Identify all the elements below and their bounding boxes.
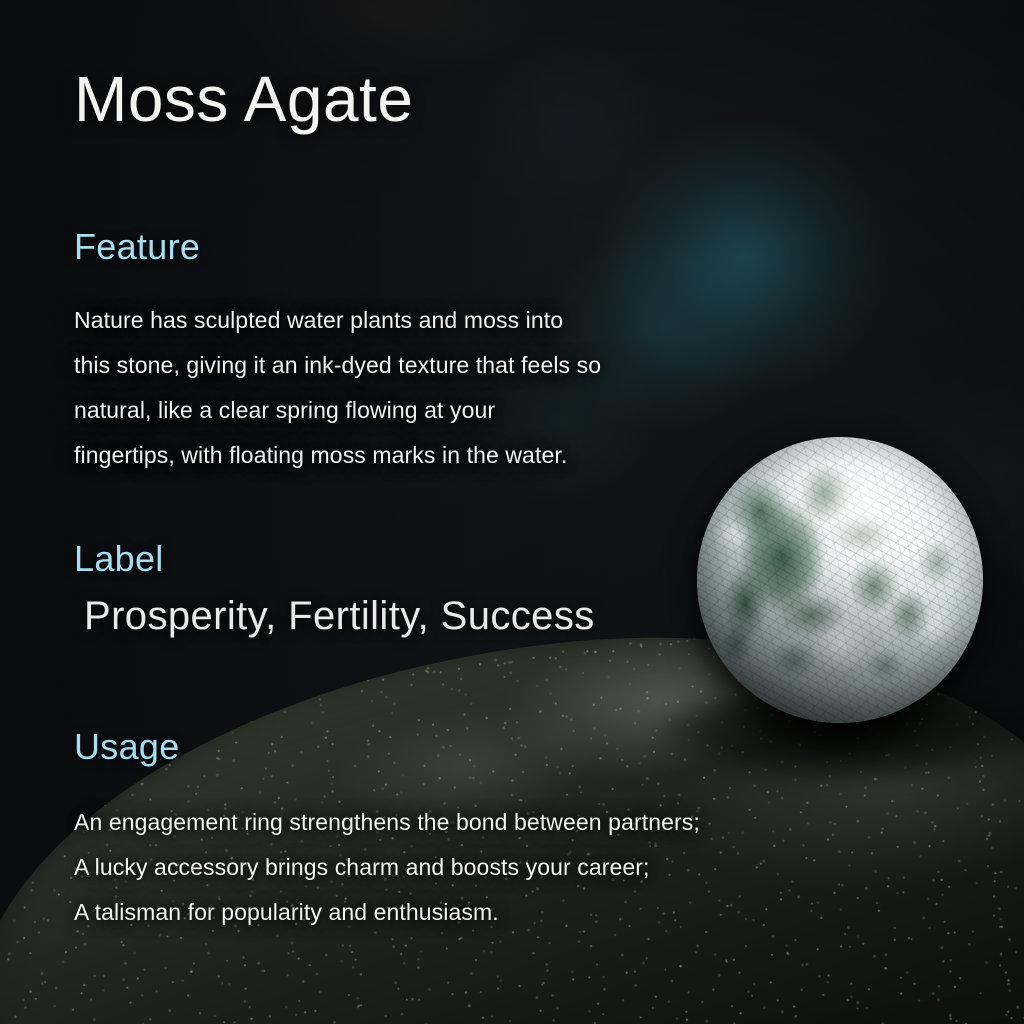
- section-feature: Feature Nature has sculpted water plants…: [74, 226, 601, 478]
- section-label: Label Prosperity, Fertility, Success: [74, 538, 595, 639]
- feature-line: natural, like a clear spring flowing at …: [74, 388, 601, 433]
- feature-line: Nature has sculpted water plants and mos…: [74, 298, 601, 343]
- moss-agate-product-card: Moss Agate Feature Nature has sculpted w…: [0, 0, 1024, 1024]
- usage-line: A lucky accessory brings charm and boost…: [74, 845, 700, 890]
- section-usage: Usage An engagement ring strengthens the…: [74, 726, 700, 935]
- usage-body: An engagement ring strengthens the bond …: [74, 800, 700, 935]
- usage-line: An engagement ring strengthens the bond …: [74, 800, 700, 845]
- moss-agate-sphere: [697, 437, 983, 723]
- label-value: Prosperity, Fertility, Success: [84, 594, 595, 639]
- sphere-shading: [697, 437, 983, 723]
- text-column: Moss Agate Feature Nature has sculpted w…: [0, 0, 720, 1024]
- feature-line: fingertips, with floating moss marks in …: [74, 433, 601, 478]
- feature-body: Nature has sculpted water plants and mos…: [74, 298, 601, 478]
- usage-line: A talisman for popularity and enthusiasm…: [74, 890, 700, 935]
- section-heading-usage: Usage: [74, 726, 700, 768]
- section-heading-feature: Feature: [74, 226, 601, 268]
- section-heading-label: Label: [74, 538, 595, 580]
- feature-line: this stone, giving it an ink-dyed textur…: [74, 343, 601, 388]
- sphere-body: [697, 437, 983, 723]
- page-title: Moss Agate: [74, 62, 413, 136]
